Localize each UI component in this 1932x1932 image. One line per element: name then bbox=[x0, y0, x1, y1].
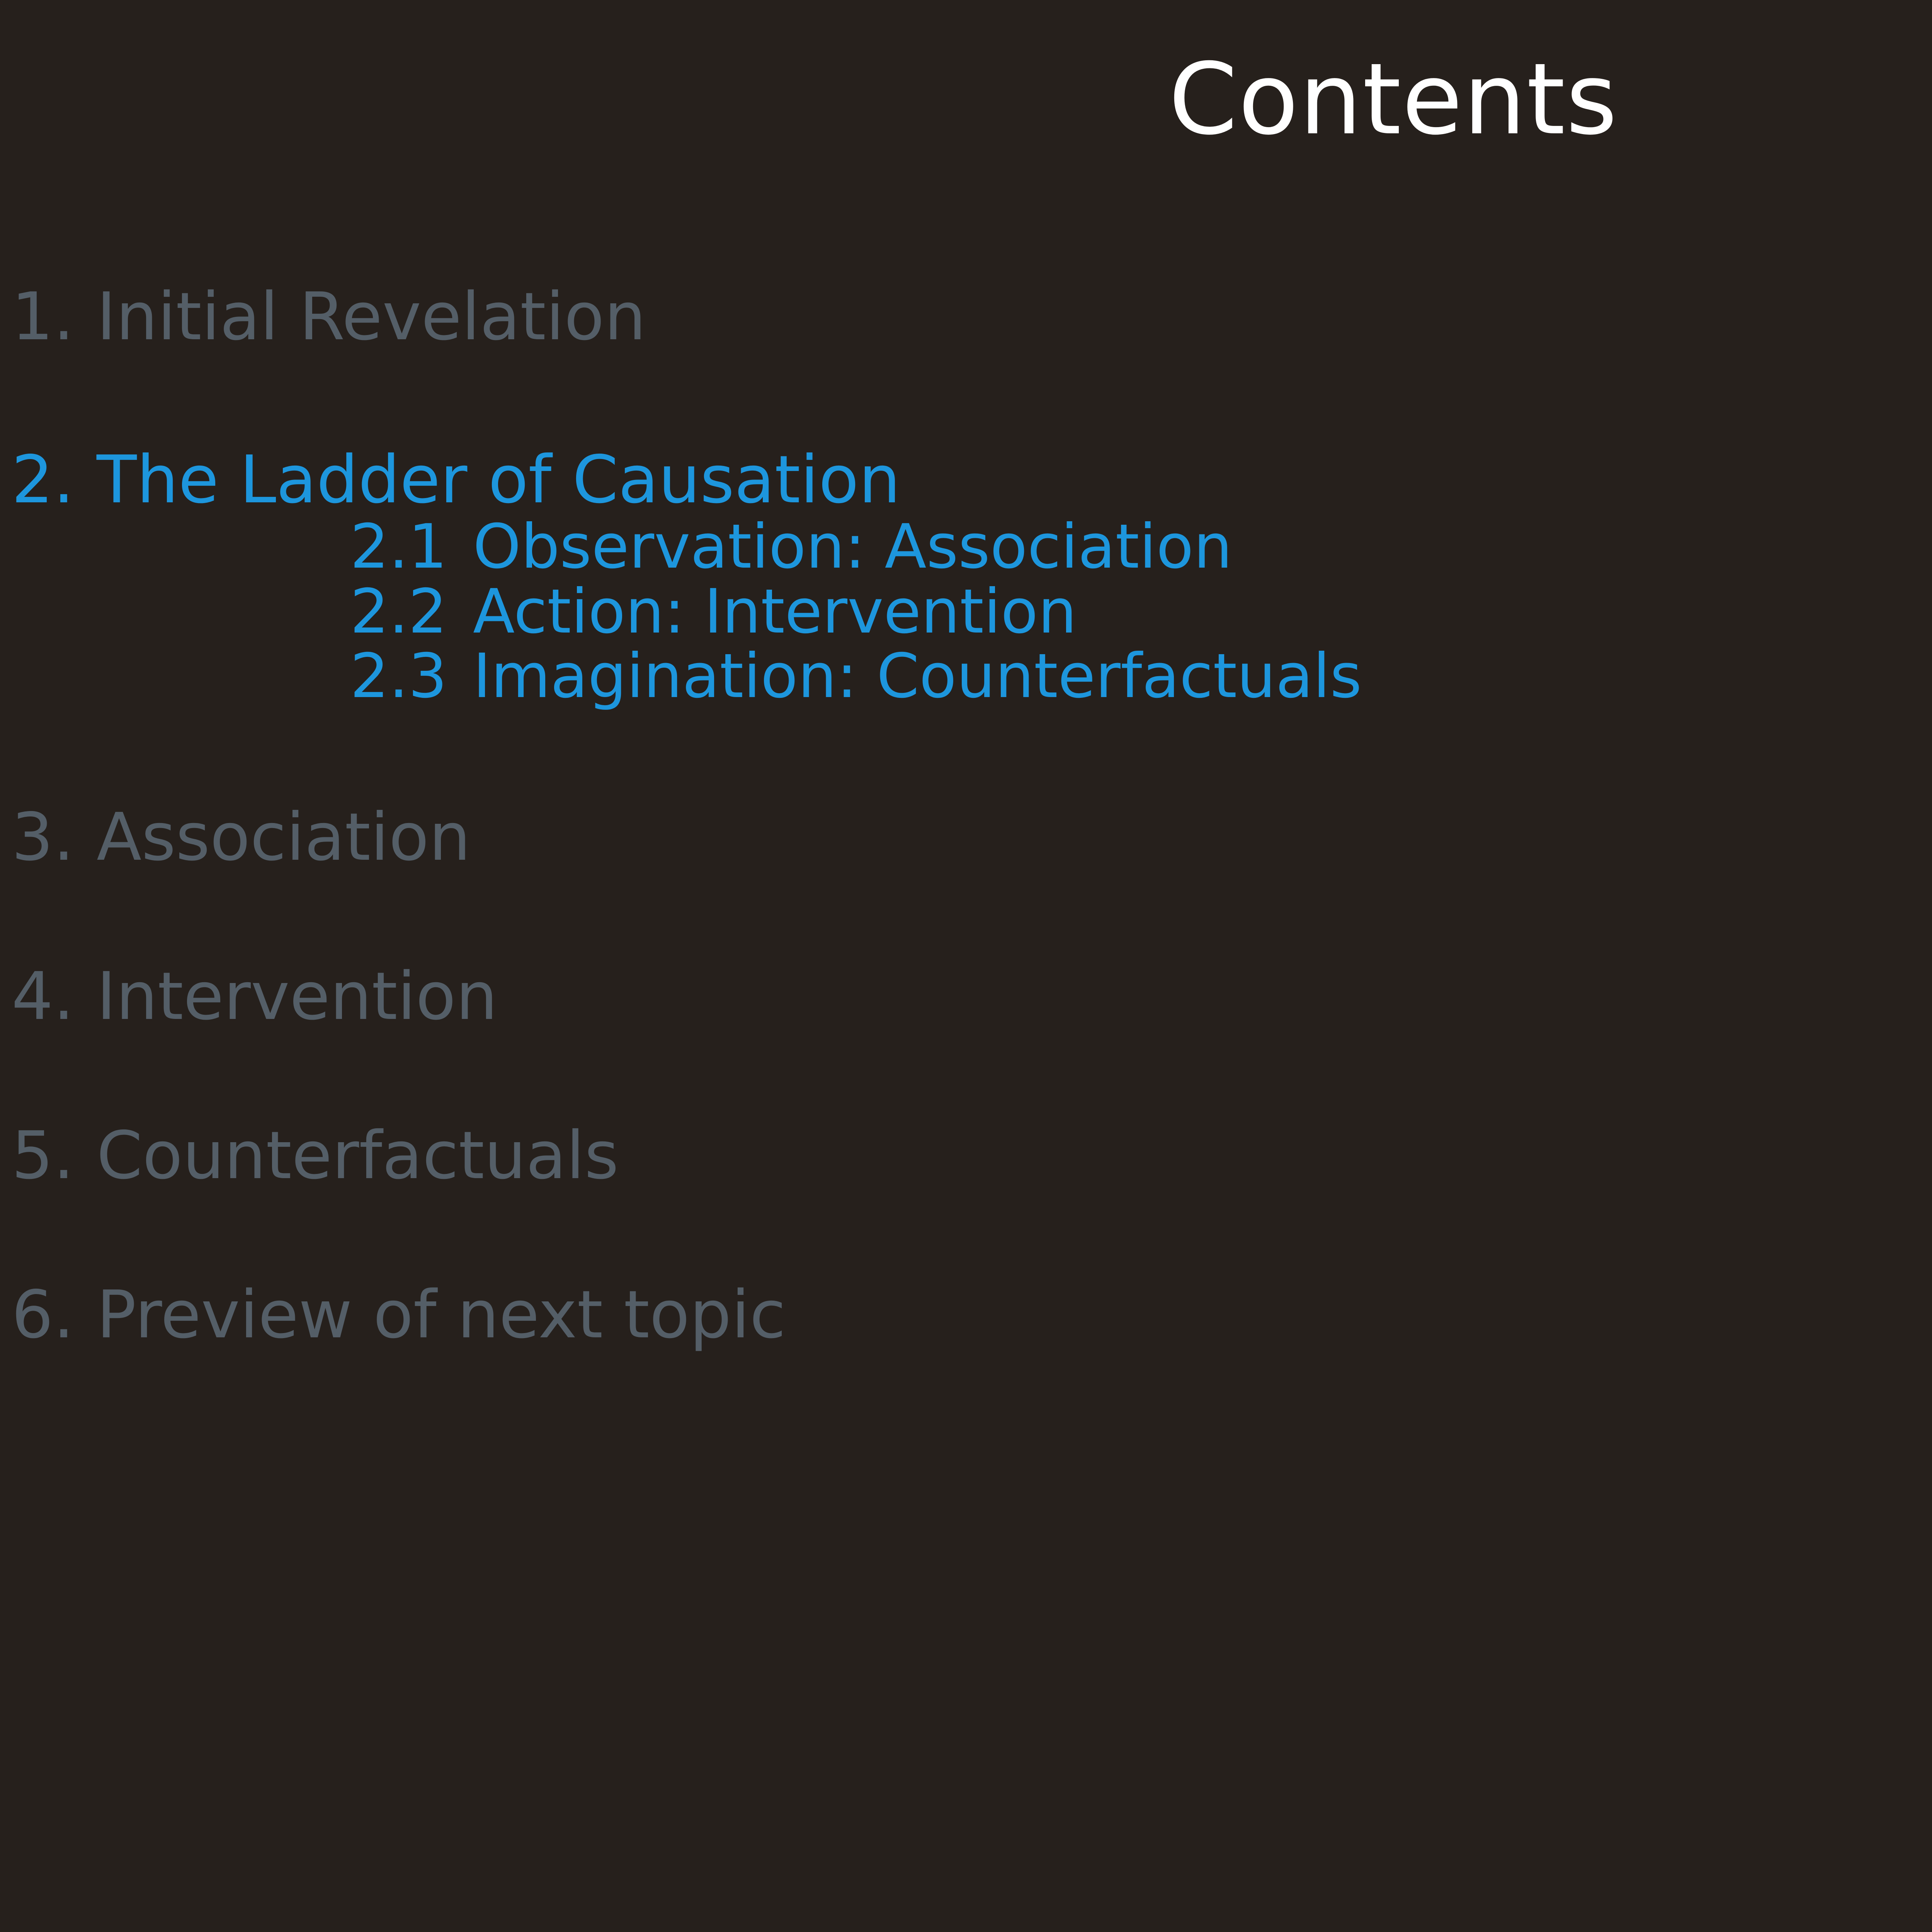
toc-section-6-label: Preview of next topic bbox=[97, 1277, 786, 1353]
toc-section-6[interactable]: 6.Preview of next topic bbox=[0, 1280, 1932, 1350]
spacer bbox=[0, 1190, 1932, 1280]
toc-section-1-label: Initial Revelation bbox=[97, 279, 646, 355]
toc-section-4-label: Intervention bbox=[97, 958, 498, 1035]
toc-section-1-number: 1. bbox=[0, 282, 97, 352]
spacer bbox=[0, 352, 1932, 445]
table-of-contents: 1.Initial Revelation 2.The Ladder of Cau… bbox=[0, 282, 1932, 1350]
toc-section-5-label: Counterfactuals bbox=[97, 1117, 619, 1194]
spacer bbox=[0, 872, 1932, 962]
toc-subsection-2-3-label: Imagination: Counterfactuals bbox=[473, 641, 1362, 712]
beamer-slide: Contents 1.Initial Revelation 2.The Ladd… bbox=[0, 0, 1932, 1932]
spacer bbox=[0, 709, 1932, 803]
toc-section-2-label: The Ladder of Causation bbox=[97, 442, 900, 518]
toc-subsection-2-1[interactable]: 2.1Observation: Association bbox=[0, 515, 1932, 579]
toc-section-5[interactable]: 5.Counterfactuals bbox=[0, 1121, 1932, 1190]
toc-subsection-2-1-number: 2.1 bbox=[350, 515, 473, 579]
toc-section-4-number: 4. bbox=[0, 962, 97, 1031]
page-title: Contents bbox=[0, 50, 1932, 149]
toc-section-3[interactable]: 3.Association bbox=[0, 803, 1932, 872]
toc-section-2[interactable]: 2.The Ladder of Causation bbox=[0, 445, 1932, 515]
toc-section-3-label: Association bbox=[97, 799, 471, 876]
toc-section-3-number: 3. bbox=[0, 803, 97, 872]
toc-section-1[interactable]: 1.Initial Revelation bbox=[0, 282, 1932, 352]
toc-subsection-2-1-label: Observation: Association bbox=[473, 511, 1232, 582]
toc-subsection-2-2-label: Action: Intervention bbox=[473, 576, 1077, 647]
toc-section-6-number: 6. bbox=[0, 1280, 97, 1350]
toc-section-4[interactable]: 4.Intervention bbox=[0, 962, 1932, 1031]
toc-subsection-2-3-number: 2.3 bbox=[350, 644, 473, 709]
spacer bbox=[0, 1031, 1932, 1121]
toc-subsection-2-3[interactable]: 2.3Imagination: Counterfactuals bbox=[0, 644, 1932, 709]
toc-subsection-2-2-number: 2.2 bbox=[350, 580, 473, 644]
toc-section-5-number: 5. bbox=[0, 1121, 97, 1190]
toc-subsection-2-2[interactable]: 2.2Action: Intervention bbox=[0, 580, 1932, 644]
toc-section-2-number: 2. bbox=[0, 445, 97, 515]
